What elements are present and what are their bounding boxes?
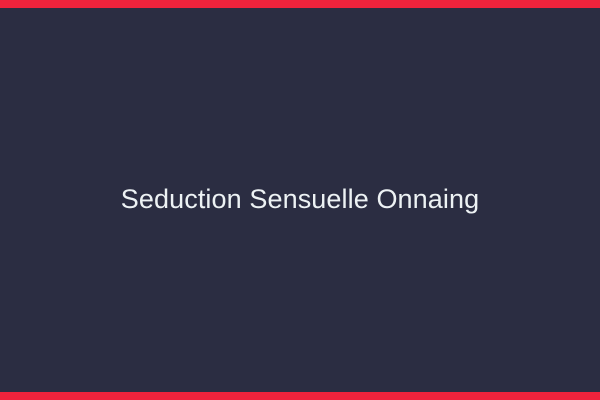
placeholder-banner: Seduction Sensuelle Onnaing bbox=[0, 0, 600, 400]
banner-content-area: Seduction Sensuelle Onnaing bbox=[0, 8, 600, 392]
banner-title: Seduction Sensuelle Onnaing bbox=[121, 183, 479, 217]
bottom-accent-bar bbox=[0, 392, 600, 400]
top-accent-bar bbox=[0, 0, 600, 8]
